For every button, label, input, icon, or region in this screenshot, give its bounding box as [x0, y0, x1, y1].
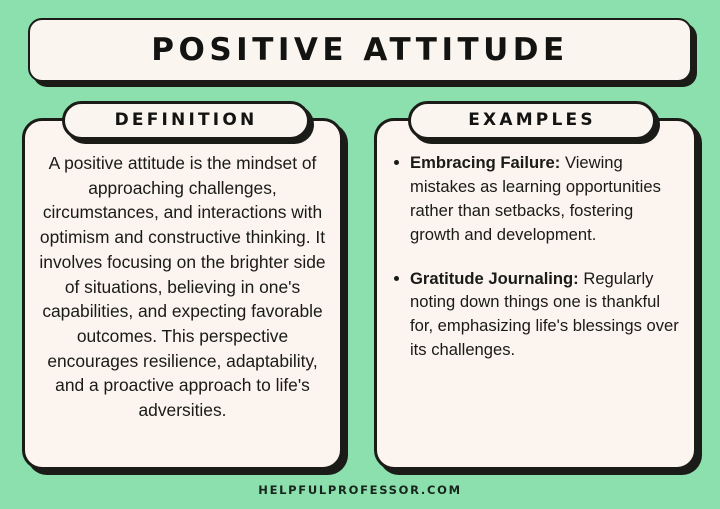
examples-card-body: Embracing Failure: Viewing mistakes as l…	[377, 151, 694, 459]
footer: helpfulprofessor.com	[0, 481, 720, 499]
page-title-bar: Positive Attitude	[28, 18, 692, 82]
footer-attribution: helpfulprofessor.com	[258, 483, 461, 497]
definition-badge: Definition	[62, 101, 310, 140]
definition-card-body: A positive attitude is the mindset of ap…	[25, 151, 340, 459]
examples-badge: Examples	[408, 101, 656, 140]
examples-card: Embracing Failure: Viewing mistakes as l…	[374, 118, 697, 470]
definition-badge-label: Definition	[115, 112, 258, 129]
bullet-icon	[394, 160, 399, 165]
examples-badge-label: Examples	[468, 112, 596, 129]
examples-list: Embracing Failure: Viewing mistakes as l…	[391, 151, 680, 362]
page-title: Positive Attitude	[151, 35, 568, 66]
list-item: Gratitude Journaling: Regularly noting d…	[391, 267, 680, 363]
bullet-icon	[394, 276, 399, 281]
list-item: Embracing Failure: Viewing mistakes as l…	[391, 151, 680, 247]
example-term: Gratitude Journaling:	[410, 269, 579, 288]
definition-text: A positive attitude is the mindset of ap…	[39, 151, 326, 423]
example-term: Embracing Failure:	[410, 153, 560, 172]
definition-card: A positive attitude is the mindset of ap…	[22, 118, 343, 470]
